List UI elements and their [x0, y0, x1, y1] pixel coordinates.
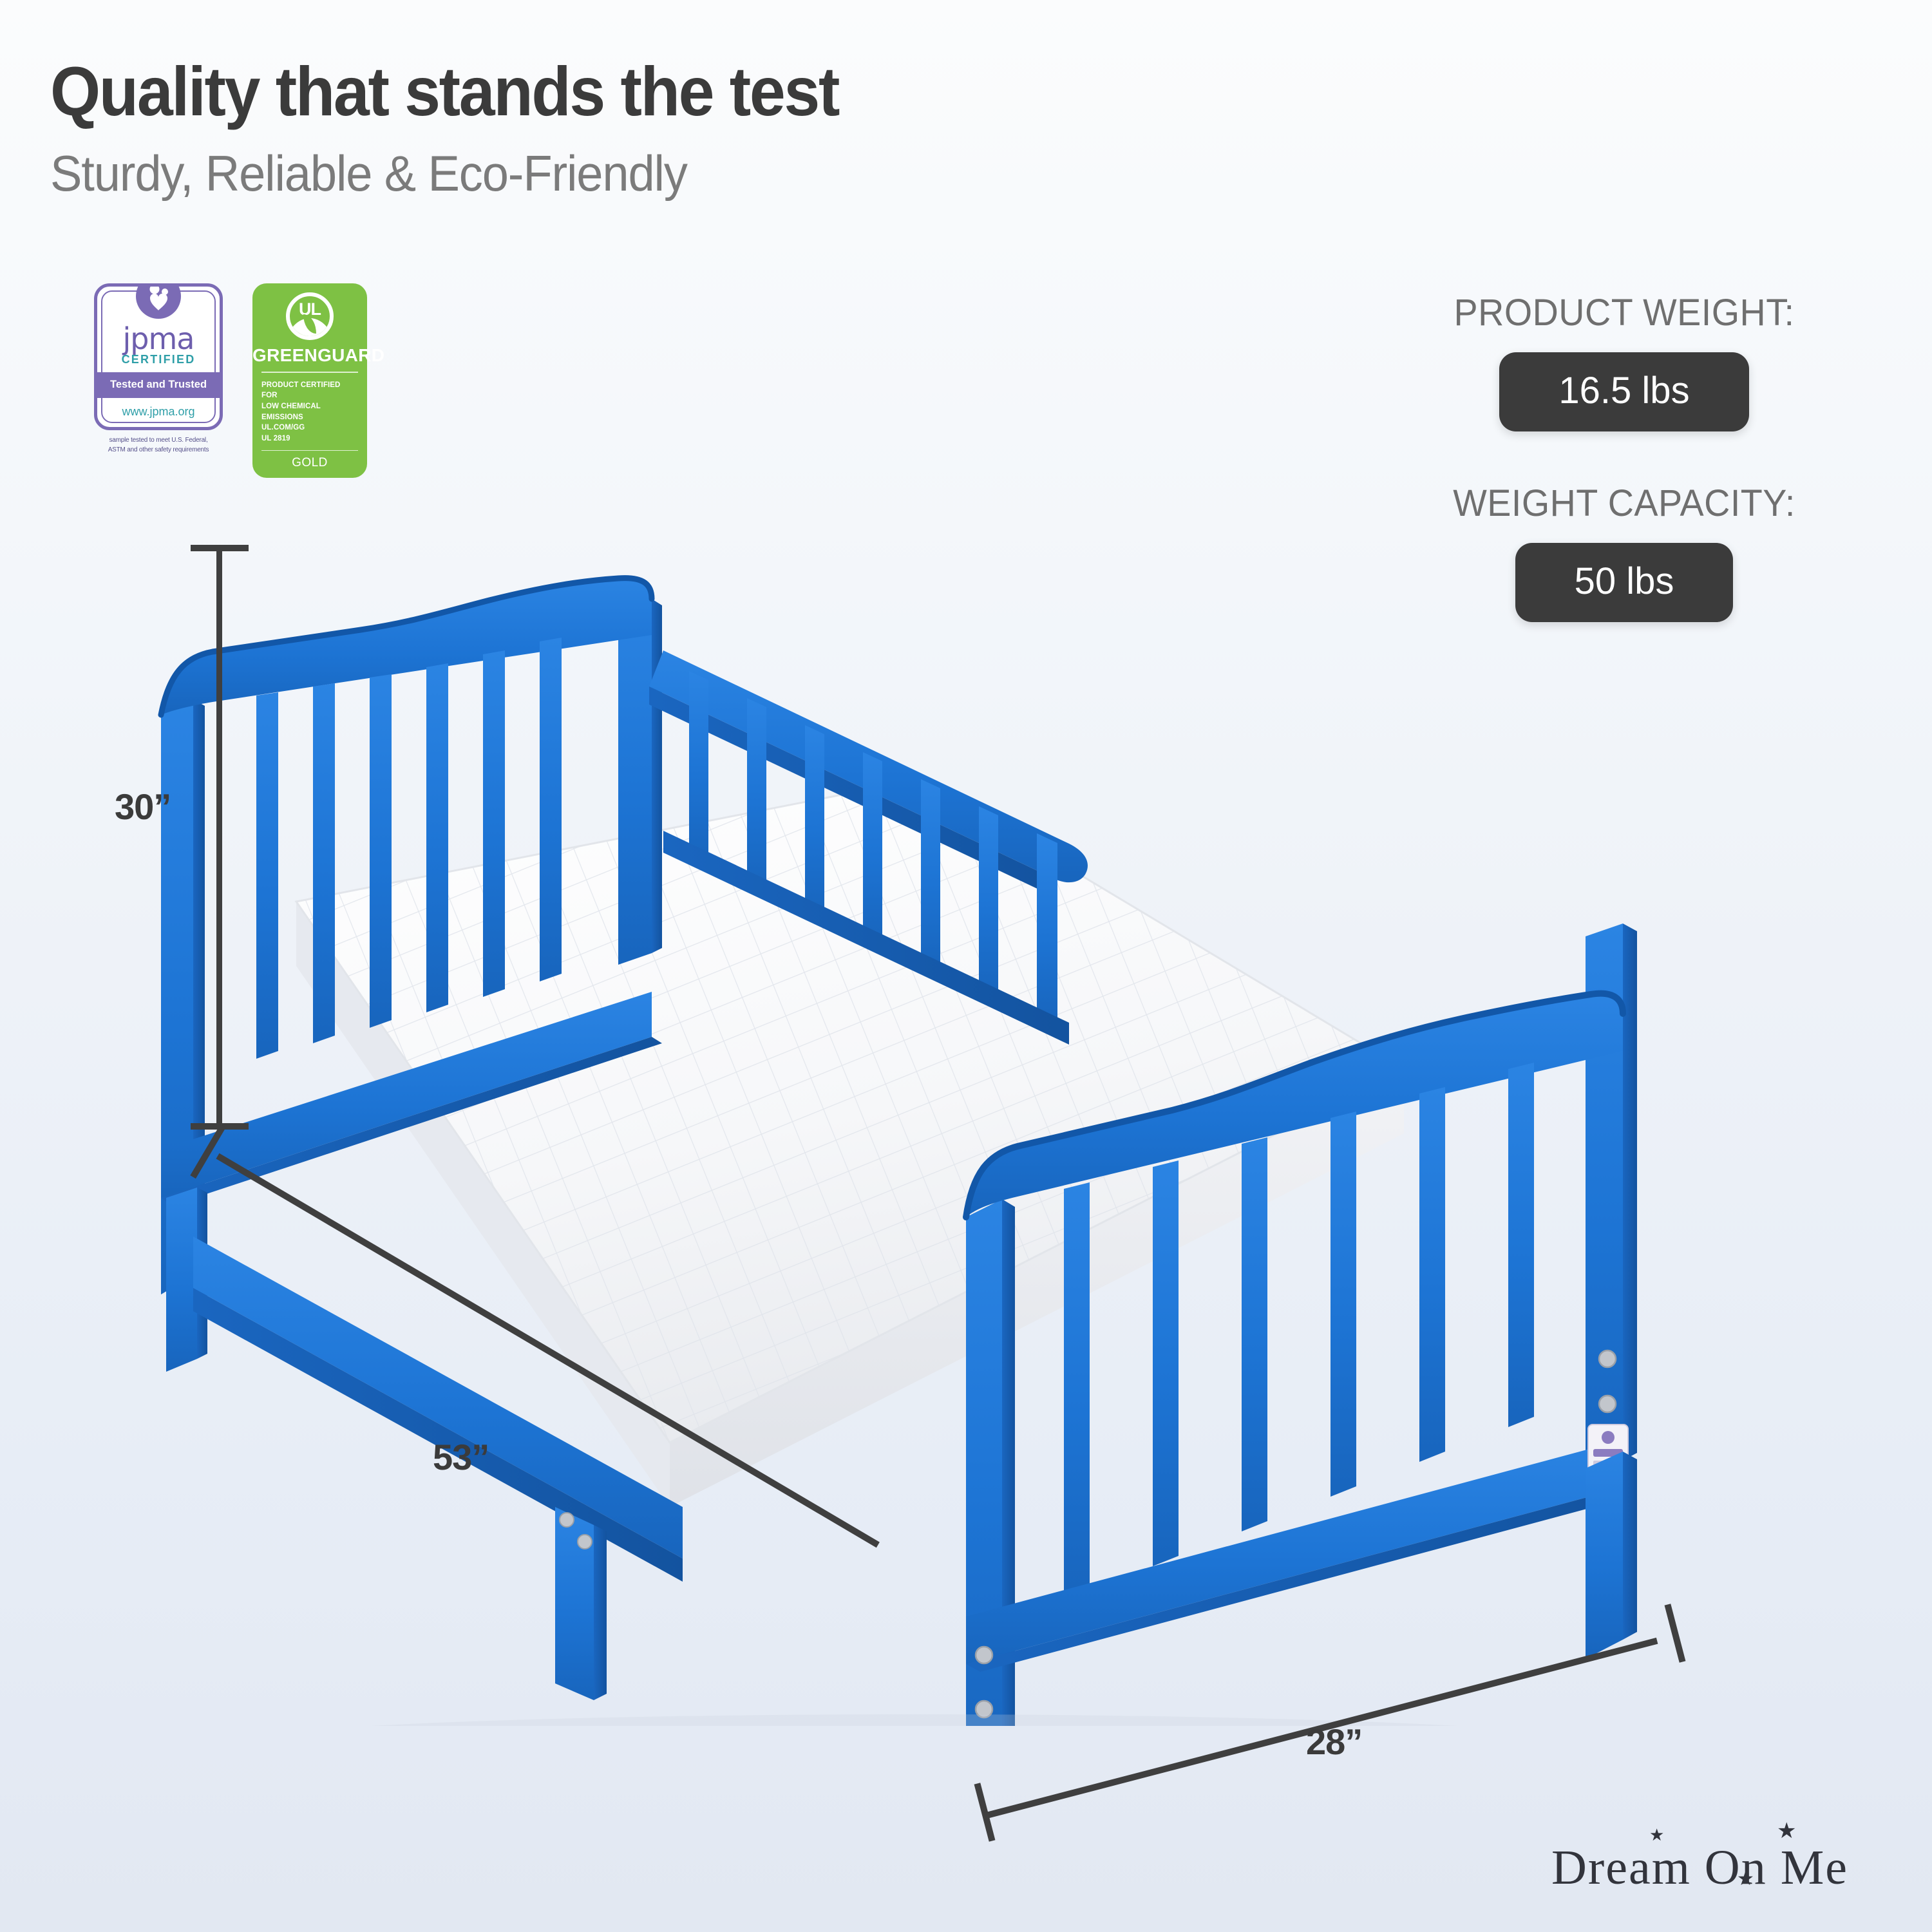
star-icon-2: ★	[1777, 1821, 1797, 1842]
bed-svg	[0, 502, 1932, 1726]
jpma-certified-text: CERTIFIED	[97, 352, 220, 372]
jpma-url-text: www.jpma.org	[97, 398, 220, 427]
width-dimension-label: 28”	[1306, 1721, 1362, 1763]
footboard-leg-right-side	[1623, 1452, 1637, 1640]
jpma-tested-trusted-band: Tested and Trusted	[97, 372, 220, 398]
header-block: Quality that stands the test Sturdy, Rel…	[50, 57, 898, 198]
ul-mark-text: UL	[290, 301, 330, 318]
width-dimension-cap-left	[974, 1783, 996, 1842]
jpma-wordmark: jpma	[97, 327, 220, 352]
jpma-fineprint-line-2: ASTM and other safety requirements	[94, 446, 223, 455]
greenguard-wordmark: GREENGUARD	[252, 343, 367, 372]
ul-leaf-icon: UL	[286, 292, 334, 340]
brand-name-text: Dream On Me	[1551, 1841, 1848, 1895]
greenguard-line-4: UL 2819	[261, 433, 358, 444]
product-weight-label: PRODUCT WEIGHT:	[1396, 291, 1853, 334]
greenguard-line-2: LOW CHEMICAL EMISSIONS	[261, 401, 358, 422]
floor-shadow	[219, 1714, 1610, 1726]
jpma-fineprint-line-1: sample tested to meet U.S. Federal,	[94, 436, 223, 446]
certification-badges: jpma CERTIFIED Tested and Trusted www.jp…	[94, 283, 367, 478]
jpma-heart-figures-icon	[136, 283, 181, 319]
product-weight-block: PRODUCT WEIGHT: 16.5 lbs	[1386, 291, 1862, 431]
star-icon-1: ★	[1649, 1827, 1665, 1844]
brand-logo: Dream On Me ★ ★ ★	[1551, 1840, 1848, 1896]
toddler-bed-illustration	[0, 502, 1932, 1726]
jpma-fineprint: sample tested to meet U.S. Federal, ASTM…	[94, 436, 223, 455]
greenguard-gold-badge: UL GREENGUARD PRODUCT CERTIFIED FOR LOW …	[252, 283, 367, 478]
footboard-leg-right	[1586, 1452, 1623, 1659]
jpma-logo-area	[97, 287, 220, 328]
page-title: Quality that stands the test	[50, 57, 838, 126]
greenguard-line-3: UL.COM/GG	[261, 422, 358, 433]
greenguard-line-1: PRODUCT CERTIFIED FOR	[261, 380, 358, 401]
product-weight-value: 16.5 lbs	[1499, 352, 1748, 431]
brand-name: Dream On Me ★ ★ ★	[1551, 1840, 1848, 1896]
jpma-card: jpma CERTIFIED Tested and Trusted www.jp…	[94, 283, 223, 430]
jpma-parent-child-heart-icon	[136, 283, 181, 319]
page-subtitle: Sturdy, Reliable & Eco-Friendly	[50, 148, 855, 198]
greenguard-tier-label: GOLD	[252, 451, 367, 478]
jpma-certified-badge: jpma CERTIFIED Tested and Trusted www.jp…	[94, 283, 223, 455]
greenguard-details: PRODUCT CERTIFIED FOR LOW CHEMICAL EMISS…	[252, 373, 367, 450]
star-icon-3: ★	[1737, 1870, 1756, 1889]
greenguard-card: UL GREENGUARD PRODUCT CERTIFIED FOR LOW …	[252, 283, 367, 478]
greenguard-logo-area: UL	[252, 292, 367, 343]
